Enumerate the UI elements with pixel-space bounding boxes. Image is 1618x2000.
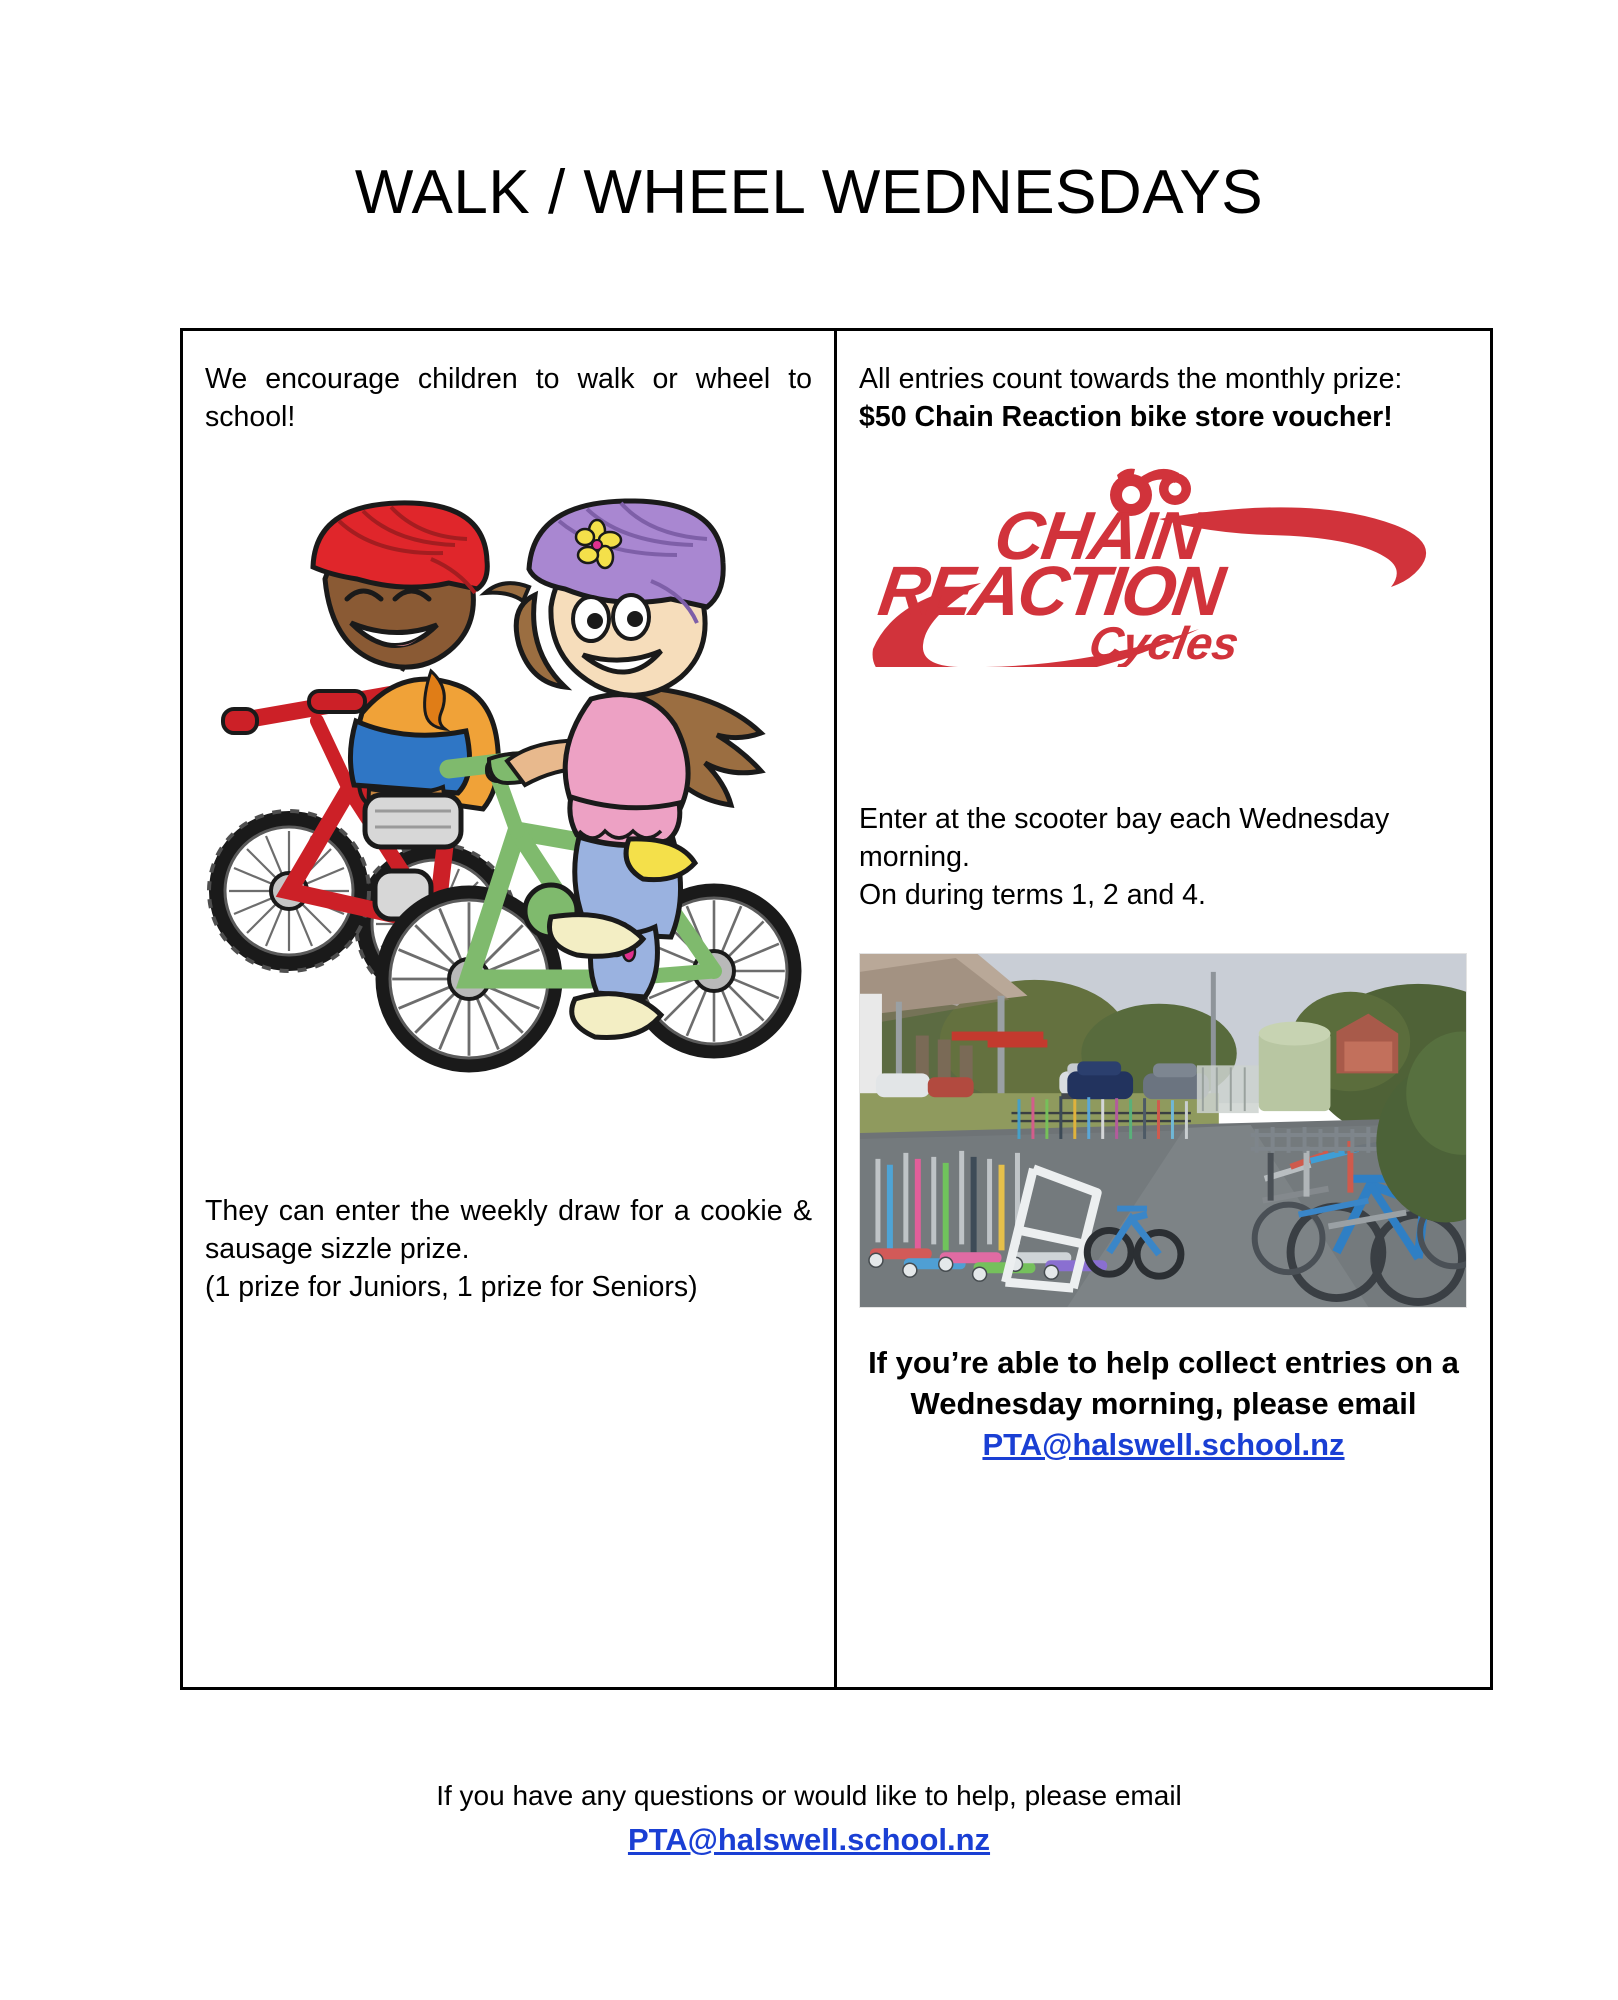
- help-request-text: If you’re able to help collect entries o…: [868, 1345, 1459, 1421]
- two-children-riding-bikes-illustration: [199, 459, 819, 1099]
- chain-reaction-cycles-logo: CHAIN REACTION Cycles: [859, 467, 1469, 667]
- right-mid-text-block: Enter at the scooter bay each Wednesday …: [859, 801, 1468, 915]
- enter-text: Enter at the scooter bay each Wednesday …: [859, 801, 1468, 877]
- page-title: WALK / WHEEL WEDNESDAYS: [0, 160, 1618, 225]
- help-request-block: If you’re able to help collect entries o…: [859, 1343, 1468, 1466]
- poster-page: WALK / WHEEL WEDNESDAYS We encourage chi…: [0, 0, 1618, 2000]
- logo-text-cycles: Cycles: [1085, 617, 1242, 667]
- entries-text: All entries count towards the monthly pr…: [859, 361, 1468, 399]
- left-bottom-text-block: They can enter the weekly draw for a coo…: [205, 1193, 812, 1307]
- prize-text: $50 Chain Reaction bike store voucher!: [859, 399, 1468, 437]
- pta-email-link-footer[interactable]: PTA@halswell.school.nz: [628, 1822, 990, 1857]
- footer: If you have any questions or would like …: [0, 1775, 1618, 1864]
- pta-email-link-column[interactable]: PTA@halswell.school.nz: [982, 1425, 1344, 1466]
- intro-text: We encourage children to walk or wheel t…: [205, 361, 812, 437]
- content-table: We encourage children to walk or wheel t…: [180, 328, 1493, 1690]
- table-cell-right: All entries count towards the monthly pr…: [837, 331, 1490, 1687]
- terms-text: On during terms 1, 2 and 4.: [859, 877, 1468, 915]
- footer-question-text: If you have any questions or would like …: [0, 1775, 1618, 1817]
- table-cell-left: We encourage children to walk or wheel t…: [183, 331, 837, 1687]
- weekly-draw-note: (1 prize for Juniors, 1 prize for Senior…: [205, 1269, 812, 1307]
- school-scooter-and-bike-bay-photo: [859, 953, 1467, 1308]
- weekly-draw-text: They can enter the weekly draw for a coo…: [205, 1193, 812, 1269]
